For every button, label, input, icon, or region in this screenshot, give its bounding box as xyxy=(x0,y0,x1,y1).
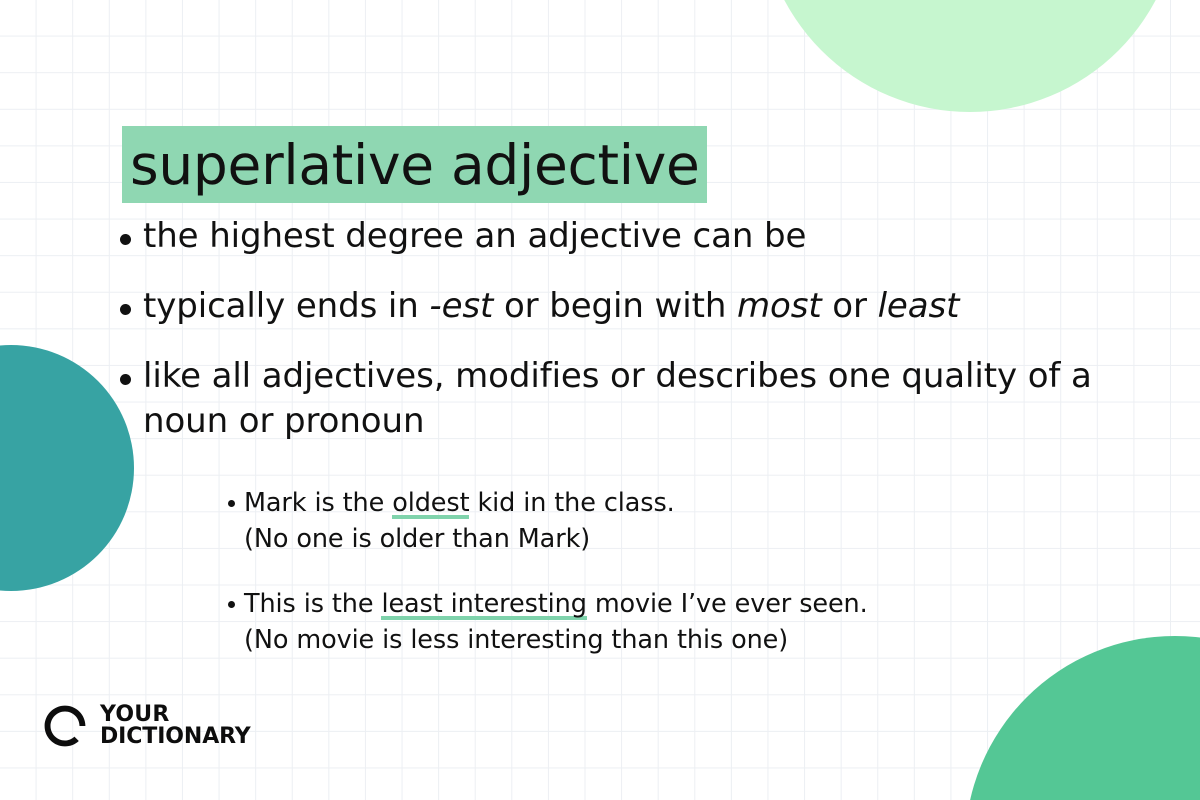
list-item: This is the least interesting movie I’ve… xyxy=(228,587,1188,658)
bullet-text-1: the highest degree an adjective can be xyxy=(143,214,1130,258)
yourdictionary-logo[interactable]: YOUR DICTIONARY xyxy=(42,703,251,749)
example-sentence-list: Mark is the oldest kid in the class.(No … xyxy=(228,486,1188,659)
page-title: superlative adjective xyxy=(122,126,707,203)
bullet-dot-icon xyxy=(120,374,131,385)
logo-line-2: DICTIONARY xyxy=(100,726,251,748)
bullet-dot-icon xyxy=(120,234,131,245)
list-item: typically ends in -est or begin with mos… xyxy=(120,284,1130,328)
example-text-1: Mark is the oldest kid in the class.(No … xyxy=(244,486,1188,557)
bullet-dot-icon xyxy=(228,500,235,507)
bullet-text-3: like all adjectives, modifies or describ… xyxy=(143,354,1130,442)
bullet-text-2: typically ends in -est or begin with mos… xyxy=(143,284,1130,328)
example-note: (No one is older than Mark) xyxy=(244,522,1188,558)
infographic-canvas: superlative adjective the highest degree… xyxy=(0,0,1200,800)
bullet-dot-icon xyxy=(120,304,131,315)
list-item: like all adjectives, modifies or describ… xyxy=(120,354,1130,442)
definition-bullet-list: the highest degree an adjective can be t… xyxy=(120,210,1130,443)
list-item: Mark is the oldest kid in the class.(No … xyxy=(228,486,1188,557)
underlined-superlative: least interesting xyxy=(381,589,586,620)
yourdictionary-q-logo-icon xyxy=(42,703,88,749)
list-item: the highest degree an adjective can be xyxy=(120,214,1130,258)
example-text-2: This is the least interesting movie I’ve… xyxy=(244,587,1188,658)
example-note: (No movie is less interesting than this … xyxy=(244,623,1188,659)
underlined-superlative: oldest xyxy=(392,488,469,519)
logo-line-1: YOUR xyxy=(100,704,251,726)
infographic-content: superlative adjective the highest degree… xyxy=(0,0,1200,800)
logo-wordmark: YOUR DICTIONARY xyxy=(100,704,251,748)
page-title-text: superlative adjective xyxy=(122,126,707,203)
bullet-dot-icon xyxy=(228,601,235,608)
